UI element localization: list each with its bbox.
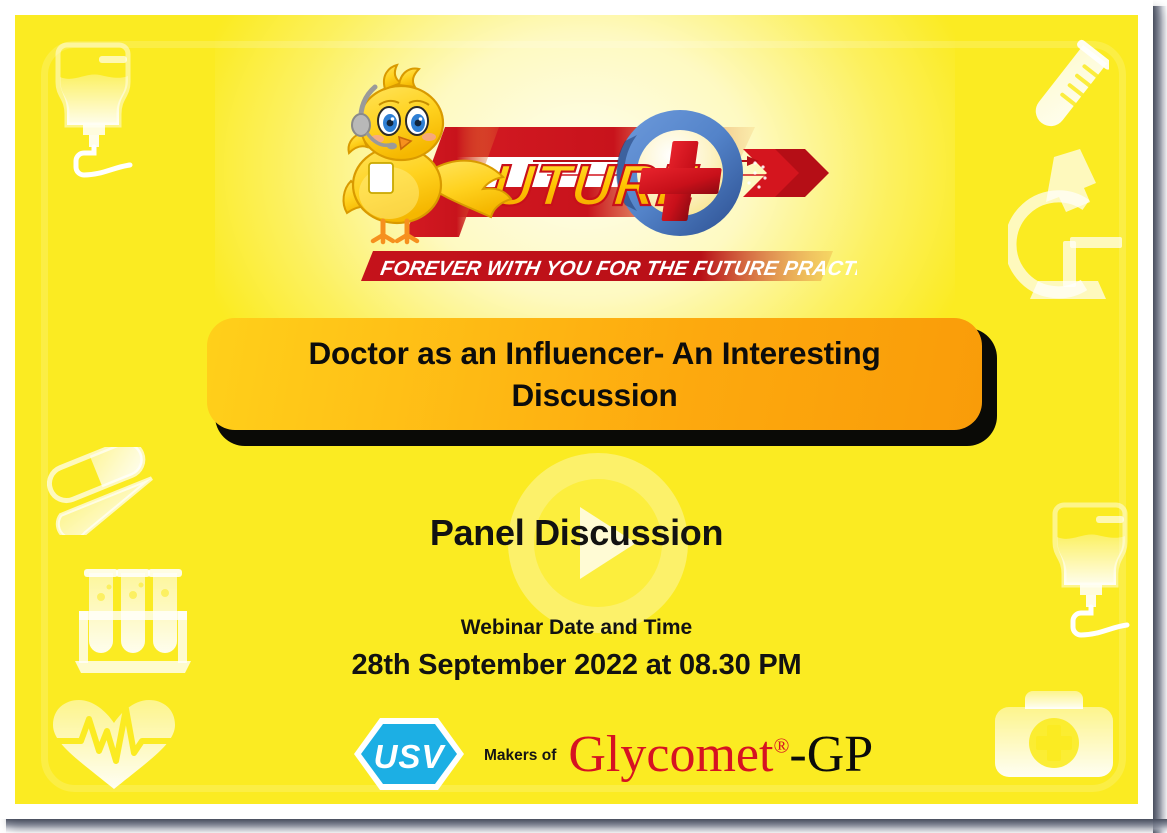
product-name: Glycomet (568, 726, 773, 783)
svg-text:USV: USV (374, 738, 447, 775)
registered-mark-icon: ® (773, 734, 789, 758)
title-banner-surface: Doctor as an Influencer- An Interesting … (207, 318, 982, 430)
heartbeat-heart-icon (49, 697, 179, 791)
product-suffix: -GP (789, 726, 873, 783)
test-tube-icon (1027, 39, 1109, 139)
frame-shadow-right (1153, 6, 1167, 833)
datetime-value: 28th September 2022 at 08.30 PM (15, 649, 1138, 682)
iv-drip-bag-icon (53, 37, 145, 187)
webinar-slide: UTURE FOREVER WITH YOU FOR THE FUTURE PR… (15, 15, 1138, 804)
slide-frame: UTURE FOREVER WITH YOU FOR THE FUTURE PR… (0, 0, 1153, 819)
makers-of-label: Makers of (484, 747, 556, 765)
title-banner: Doctor as an Influencer- An Interesting … (207, 318, 997, 446)
future-plus-logo: UTURE FOREVER WITH YOU FOR THE FUTURE PR… (337, 63, 857, 285)
webinar-title: Doctor as an Influencer- An Interesting … (245, 332, 945, 416)
usv-logo: USV (350, 716, 468, 792)
frame-shadow-bottom (6, 819, 1167, 833)
glycomet-gp-wordmark: Glycomet®-GP (568, 729, 873, 781)
microscope-icon (1008, 145, 1138, 305)
first-aid-kit-icon (993, 687, 1115, 779)
session-format: Panel Discussion (15, 512, 1138, 554)
datetime-label: Webinar Date and Time (15, 616, 1138, 640)
footer-branding: USV Makers of Glycomet®-GP (350, 713, 870, 795)
svg-text:FOREVER WITH YOU FOR THE FUTUR: FOREVER WITH YOU FOR THE FUTURE PRACTICE (379, 257, 857, 280)
